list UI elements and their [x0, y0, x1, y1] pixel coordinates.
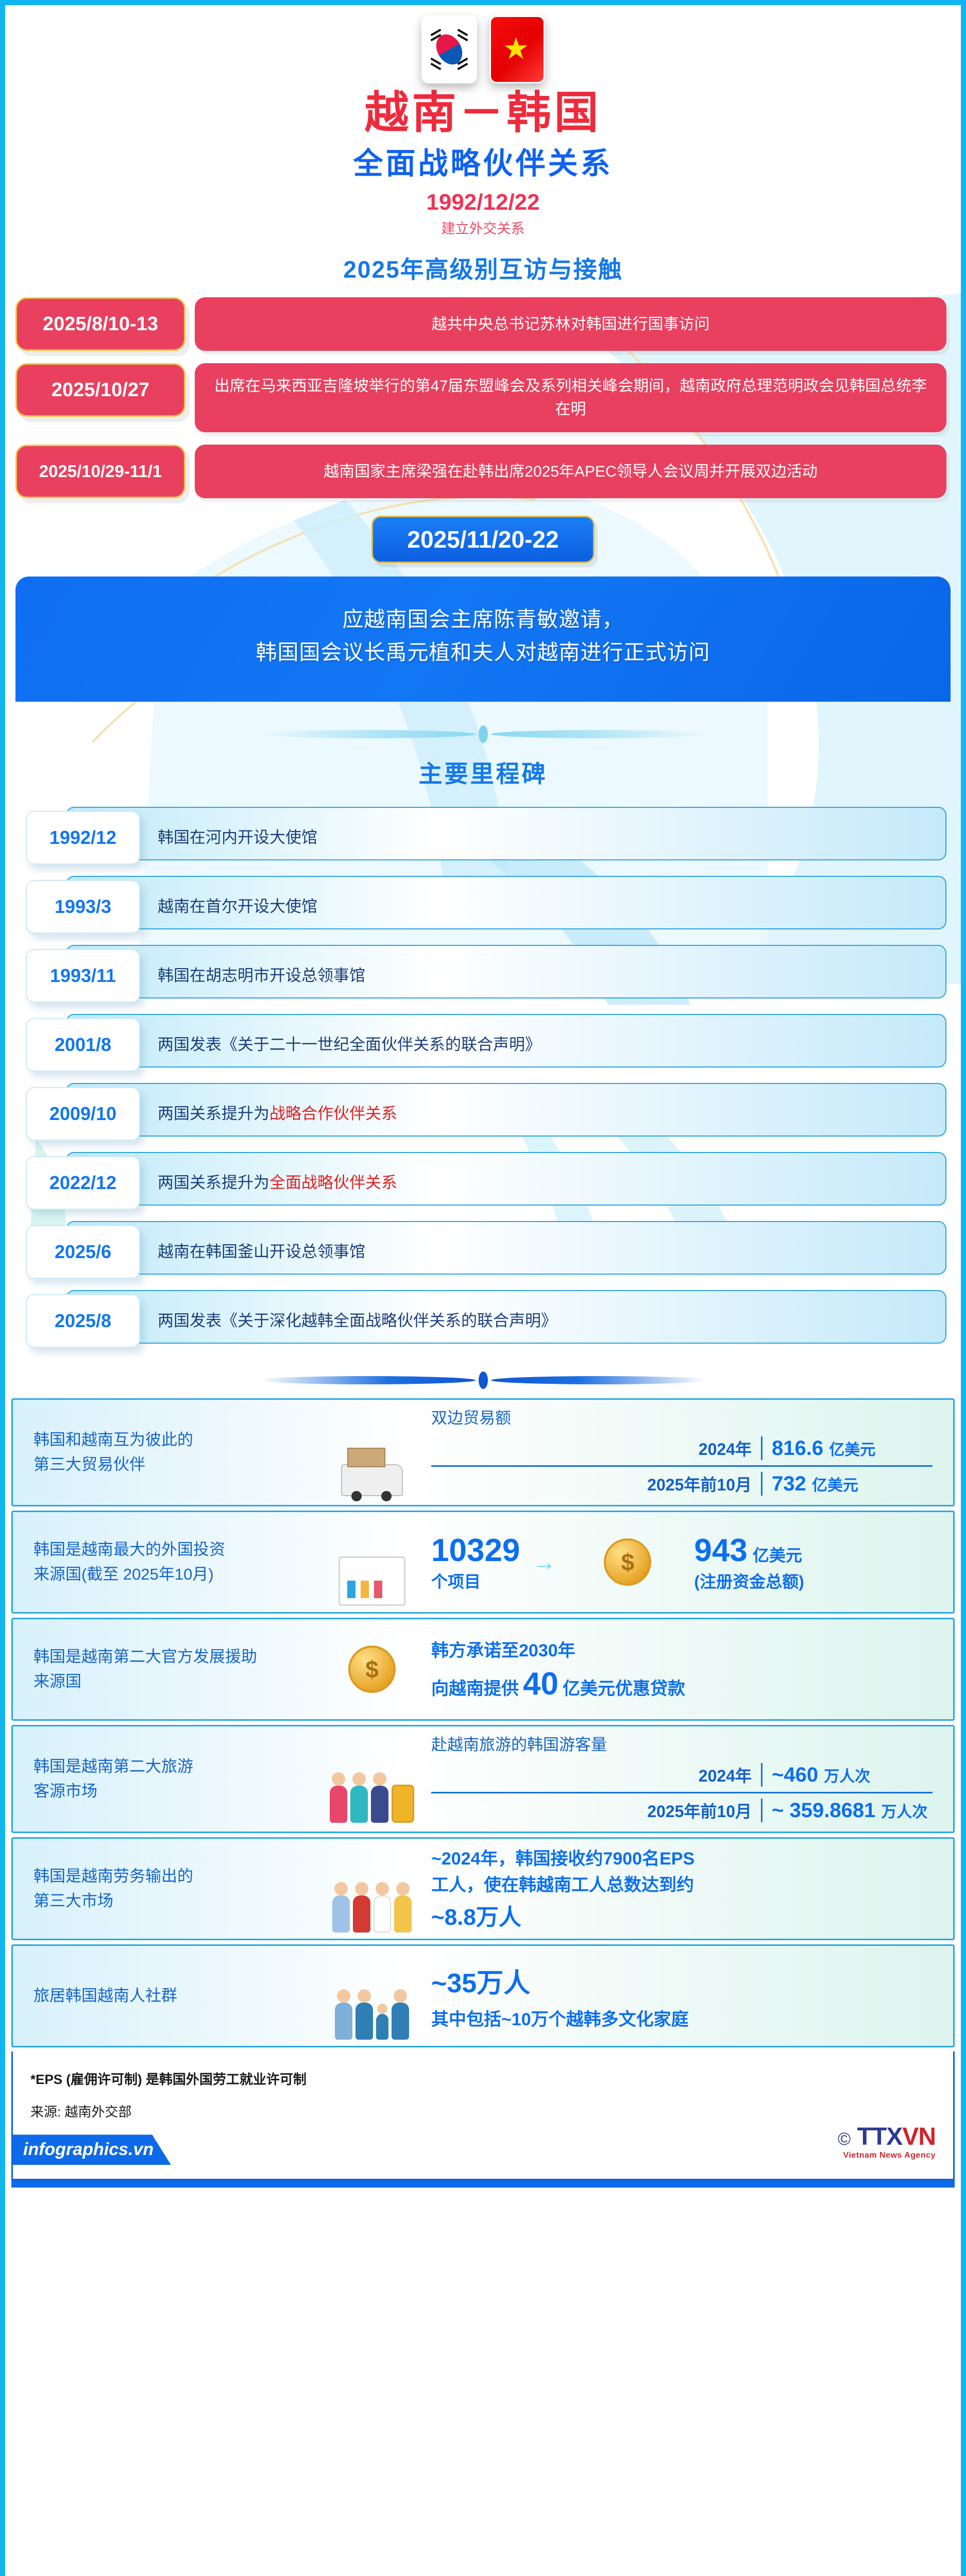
milestone-date: 1993/11: [26, 949, 140, 1003]
milestone-date: 2001/8: [26, 1018, 140, 1072]
highlight-date-badge: 2025/11/20-22: [371, 516, 594, 563]
ttxvn-mark-ttx: TTX: [857, 2123, 903, 2150]
divider-dot: [479, 1371, 488, 1389]
milestone-text: 两国关系提升为 全面战略伙伴关系: [140, 1152, 946, 1210]
stat-row-trade: 韩国和越南互为彼此的 第三大贸易伙伴 双边贸易额 2024年 816.6 亿美元: [11, 1398, 955, 1506]
milestone-text-main: 韩国在胡志明市开设总领事馆: [158, 962, 365, 986]
visit-row: 2025/10/29-11/1 越南国家主席梁强在赴韩出席2025年APEC领导…: [5, 445, 961, 498]
family-icon: [313, 1952, 431, 2040]
stat-fdi-capital-note: (注册资金总额): [694, 1569, 804, 1592]
stat-trade-title: 双边贸易额: [431, 1405, 933, 1428]
stat-row-community: 旅居韩国越南人社群 ~35万人 其中包括~10万个越韩多文化家庭: [11, 1944, 955, 2047]
milestone-text-main: 两国关系提升为: [158, 1170, 269, 1193]
stat-fdi-label-line1: 韩国是越南最大的外国投资: [33, 1537, 313, 1562]
value-unit: 万人次: [881, 1804, 927, 1821]
divider-left: [259, 1376, 476, 1384]
stat-tourism-row-label: 2024年: [699, 1763, 761, 1787]
stat-labor-line1: ~2024年，韩国接收约7900名EPS: [431, 1846, 933, 1872]
copyright-icon: ©: [838, 2129, 851, 2149]
divider-ornament-light: [5, 716, 961, 752]
workers-icon: [313, 1845, 431, 1933]
stat-tourism-row-value: ~460 万人次: [762, 1764, 933, 1787]
footer-bottom: infographics.vn © TTXVN Vietnam News Age…: [30, 2123, 936, 2163]
milestone-row: 2009/10 两国关系提升为 战略合作伙伴关系: [26, 1083, 946, 1141]
milestone-date: 2009/10: [26, 1087, 140, 1141]
stats-section: 韩国和越南互为彼此的 第三大贸易伙伴 双边贸易额 2024年 816.6 亿美元: [11, 1398, 955, 2047]
tourists-icon: [313, 1735, 431, 1823]
milestone-text-main: 越南在韩国釜山开设总领事馆: [158, 1239, 365, 1262]
stat-row-labor: 韩国是越南劳务输出的 第三大市场 ~2024年，韩国接收约7900名EPS 工人…: [11, 1837, 955, 1940]
stat-row-fdi: 韩国是越南最大的外国投资 来源国(截至 2025年10月) 10329 个项目 …: [11, 1511, 955, 1614]
stat-tourism-title: 赴越南旅游的韩国游客量: [431, 1732, 933, 1755]
stat-trade-row-label: 2025年前10月: [647, 1472, 761, 1496]
ttxvn-mark: TTXVN: [857, 2123, 936, 2150]
page-title: 越南－韩国: [5, 90, 961, 136]
stat-fdi-values: 10329 个项目 → $ 943 亿美元 (注册资金总额): [431, 1532, 942, 1592]
stat-labor-label-line2: 第三大市场: [33, 1889, 313, 1913]
presentation-chart-icon: [313, 1518, 431, 1606]
stat-oda-line2-pre: 向越南提供: [431, 1674, 519, 1700]
stat-tourism-row-label: 2025年前10月: [647, 1799, 761, 1822]
milestone-text: 越南在韩国釜山开设总领事馆: [140, 1221, 946, 1279]
stat-trade-row: 2024年 816.6 亿美元: [431, 1432, 933, 1464]
stat-fdi-label: 韩国是越南最大的外国投资 来源国(截至 2025年10月): [24, 1537, 313, 1587]
stat-trade-row: 2025年前10月 732 亿美元: [431, 1468, 933, 1500]
stat-trade-label-line1: 韩国和越南互为彼此的: [33, 1428, 313, 1452]
ttxvn-mark-vn: VN: [902, 2123, 936, 2150]
stat-tourism-row: 2024年 ~460 万人次: [431, 1759, 933, 1791]
footer: *EPS (雇佣许可制) 是韩国外国劳工就业许可制 来源: 越南外交部 info…: [11, 2052, 955, 2180]
stat-labor-values: ~2024年，韩国接收约7900名EPS 工人，使在韩越南工人总数达到约 ~8.…: [431, 1846, 942, 1931]
stat-fdi-label-line2: 来源国(截至 2025年10月): [33, 1562, 313, 1587]
milestone-text: 韩国在胡志明市开设总领事馆: [140, 945, 946, 1003]
value-number: ~ 359.8681: [772, 1799, 875, 1822]
milestone-text: 两国关系提升为 战略合作伙伴关系: [140, 1083, 946, 1141]
stat-labor-line2: 工人，使在韩越南工人总数达到约: [431, 1872, 933, 1899]
stat-oda-label-line1: 韩国是越南第二大官方发展援助: [33, 1645, 313, 1669]
visits-section: 2025年高级别互访与接触 2025/8/10-13 越共中央总书记苏林对韩国进…: [5, 251, 961, 702]
stat-community-line1: ~35万人: [431, 1961, 933, 2000]
visit-date-badge: 2025/8/10-13: [15, 297, 185, 351]
stat-tourism-row-value: ~ 359.8681 万人次: [762, 1799, 933, 1822]
value-unit: 万人次: [824, 1768, 870, 1785]
milestone-text-main: 两国关系提升为: [158, 1100, 269, 1124]
vietnam-flag: [489, 15, 545, 83]
stat-trade-label-line2: 第三大贸易伙伴: [33, 1452, 313, 1477]
milestone-row: 2001/8 两国发表《关于二十一世纪全面伙伴关系的联合声明》: [26, 1014, 946, 1072]
milestone-row: 2025/6 越南在韩国釜山开设总领事馆: [26, 1221, 946, 1279]
footer-note: *EPS (雇佣许可制) 是韩国外国劳工就业许可制: [30, 2069, 936, 2088]
delivery-truck-icon: [313, 1409, 431, 1496]
stat-fdi-projects-value: 10329: [431, 1532, 520, 1569]
stat-trade-table: 2024年 816.6 亿美元 2025年前10月 732 亿美元: [431, 1432, 933, 1500]
highlight-banner: 应越南国会主席陈青敏邀请， 韩国国会议长禹元植和夫人对越南进行正式访问: [15, 577, 951, 702]
ttxvn-subtitle: Vietnam News Agency: [838, 2151, 936, 2160]
milestone-date: 2022/12: [26, 1156, 140, 1210]
stat-fdi-projects-unit: 个项目: [431, 1569, 520, 1592]
stat-fdi-capital-value: 943: [694, 1532, 747, 1569]
stat-oda-amount: 40: [523, 1666, 558, 1702]
stat-oda-line2-post: 亿美元优惠贷款: [563, 1674, 685, 1700]
visit-description: 出席在马来西亚吉隆坡举行的第47届东盟峰会及系列相关峰会期间，越南政府总理范明政…: [195, 363, 946, 432]
milestone-text-main: 两国发表《关于深化越韩全面战略伙伴关系的联合声明》: [158, 1308, 557, 1331]
milestone-text-main: 两国发表《关于二十一世纪全面伙伴关系的联合声明》: [158, 1031, 541, 1055]
establish-date: 1992/12/22: [5, 190, 961, 215]
divider-right: [491, 1376, 707, 1384]
milestones-title: 主要里程碑: [5, 755, 961, 789]
milestone-text: 越南在首尔开设大使馆: [140, 876, 946, 934]
stat-trade-row-value: 816.6 亿美元: [762, 1437, 933, 1460]
stat-oda-values: 韩方承诺至2030年 向越南提供 40 亿美元优惠贷款: [431, 1636, 942, 1702]
coin-icon: $: [568, 1538, 687, 1586]
visit-row: 2025/10/27 出席在马来西亚吉隆坡举行的第47届东盟峰会及系列相关峰会期…: [5, 363, 961, 432]
milestone-date: 1993/3: [26, 880, 140, 934]
header: 越南－韩国 全面战略伙伴关系 1992/12/22 建立外交关系: [5, 5, 961, 238]
stat-oda-label: 韩国是越南第二大官方发展援助 来源国: [24, 1645, 313, 1694]
infographics-site-label[interactable]: infographics.vn: [13, 2134, 171, 2165]
footer-source: 来源: 越南外交部: [30, 2102, 936, 2121]
stat-community-label: 旅居韩国越南人社群: [24, 1984, 313, 2008]
row-divider: [431, 1465, 933, 1467]
stat-tourism-table: 2024年 ~460 万人次 2025年前10月 ~ 359.8681: [431, 1759, 933, 1826]
milestone-row: 1993/3 越南在首尔开设大使馆: [26, 876, 946, 934]
ttxvn-logo: © TTXVN Vietnam News Agency: [838, 2123, 936, 2163]
stat-trade-values: 双边贸易额 2024年 816.6 亿美元 2025年前10月: [431, 1405, 942, 1500]
row-divider: [431, 1792, 933, 1793]
stat-community-line2: 其中包括~10万个越韩多文化家庭: [431, 2005, 933, 2030]
highlight-line-2: 韩国国会议长禹元植和夫人对越南进行正式访问: [36, 636, 930, 669]
stat-row-oda: 韩国是越南第二大官方发展援助 来源国 $ 韩方承诺至2030年 向越南提供 40…: [11, 1618, 955, 1721]
stat-row-tourism: 韩国是越南第二大旅游 客源市场 赴越南旅游的韩国游客量 2024: [11, 1725, 955, 1833]
stat-trade-row-value: 732 亿美元: [762, 1472, 933, 1496]
milestone-text: 两国发表《关于二十一世纪全面伙伴关系的联合声明》: [140, 1014, 946, 1072]
divider-left: [259, 730, 476, 738]
value-number: 816.6: [772, 1437, 823, 1460]
footer-blue-strip: [11, 2180, 955, 2188]
visit-date-badge: 2025/10/27: [15, 363, 185, 417]
south-korea-flag: [421, 15, 477, 83]
milestone-text-main: 韩国在河内开设大使馆: [158, 824, 317, 848]
stat-community-values: ~35万人 其中包括~10万个越韩多文化家庭: [431, 1961, 942, 2030]
divider-dot: [479, 725, 488, 743]
milestone-date: 2025/6: [26, 1225, 140, 1279]
milestone-text-main: 越南在首尔开设大使馆: [158, 893, 317, 917]
visits-section-title: 2025年高级别互访与接触: [5, 251, 961, 285]
stat-tourism-label-line1: 韩国是越南第二大旅游: [33, 1754, 313, 1779]
milestone-row: 2025/8 两国发表《关于深化越韩全面战略伙伴关系的联合声明》: [26, 1290, 946, 1348]
stat-trade-row-label: 2024年: [699, 1436, 761, 1460]
stat-labor-label: 韩国是越南劳务输出的 第三大市场: [24, 1864, 313, 1913]
stat-oda-line1: 韩方承诺至2030年: [431, 1636, 933, 1662]
visit-description: 越南国家主席梁强在赴韩出席2025年APEC领导人会议周并开展双边活动: [195, 445, 946, 498]
milestone-text-highlight: 战略合作伙伴关系: [269, 1100, 397, 1124]
value-unit: 亿美元: [829, 1442, 875, 1459]
visit-date-badge: 2025/10/29-11/1: [15, 445, 185, 498]
flags-row: [5, 15, 961, 83]
stat-tourism-values: 赴越南旅游的韩国游客量 2024年 ~460 万人次 2025年前10月: [431, 1732, 942, 1826]
stat-trade-label: 韩国和越南互为彼此的 第三大贸易伙伴: [24, 1428, 313, 1477]
visit-row: 2025/8/10-13 越共中央总书记苏林对韩国进行国事访问: [5, 297, 961, 351]
divider-right: [491, 730, 707, 738]
page-subtitle: 全面战略伙伴关系: [5, 139, 961, 182]
infographic-page: 越南－韩国 全面战略伙伴关系 1992/12/22 建立外交关系 2025年高级…: [0, 0, 966, 2576]
milestone-row: 1992/12 韩国在河内开设大使馆: [26, 807, 946, 865]
milestone-row: 2022/12 两国关系提升为 全面战略伙伴关系: [26, 1152, 946, 1210]
milestone-row: 1993/11 韩国在胡志明市开设总领事馆: [26, 945, 946, 1003]
stat-tourism-row: 2025年前10月 ~ 359.8681 万人次: [431, 1794, 933, 1826]
milestone-date: 2025/8: [26, 1294, 140, 1348]
visit-description: 越共中央总书记苏林对韩国进行国事访问: [195, 297, 946, 351]
establish-label: 建立外交关系: [5, 217, 961, 238]
milestone-text-highlight: 全面战略伙伴关系: [269, 1170, 397, 1193]
highlight-line-1: 应越南国会主席陈青敏邀请，: [36, 603, 930, 636]
highlight-date-wrap: 2025/11/20-22: [5, 516, 961, 563]
milestone-text: 两国发表《关于深化越韩全面战略伙伴关系的联合声明》: [140, 1290, 946, 1348]
stat-community-label-line1: 旅居韩国越南人社群: [33, 1984, 313, 2008]
divider-ornament-dark: [5, 1362, 961, 1398]
stat-oda-label-line2: 来源国: [33, 1669, 313, 1694]
value-unit: 亿美元: [812, 1477, 858, 1494]
arrow-right-icon: →: [527, 1548, 561, 1576]
milestone-date: 1992/12: [26, 811, 140, 865]
value-number: ~460: [772, 1764, 818, 1786]
milestones-list: 1992/12 韩国在河内开设大使馆 1993/3 越南在首尔开设大使馆 199…: [5, 807, 961, 1348]
stat-tourism-label-line2: 客源市场: [33, 1779, 313, 1804]
coin-stack-icon: $: [313, 1625, 431, 1713]
stat-tourism-label: 韩国是越南第二大旅游 客源市场: [24, 1754, 313, 1804]
stat-fdi-capital-unit: 亿美元: [753, 1543, 802, 1566]
value-number: 732: [772, 1472, 806, 1495]
stat-labor-line3: ~8.8万人: [431, 1899, 933, 1931]
stat-labor-label-line1: 韩国是越南劳务输出的: [33, 1864, 313, 1889]
milestone-text: 韩国在河内开设大使馆: [140, 807, 946, 865]
